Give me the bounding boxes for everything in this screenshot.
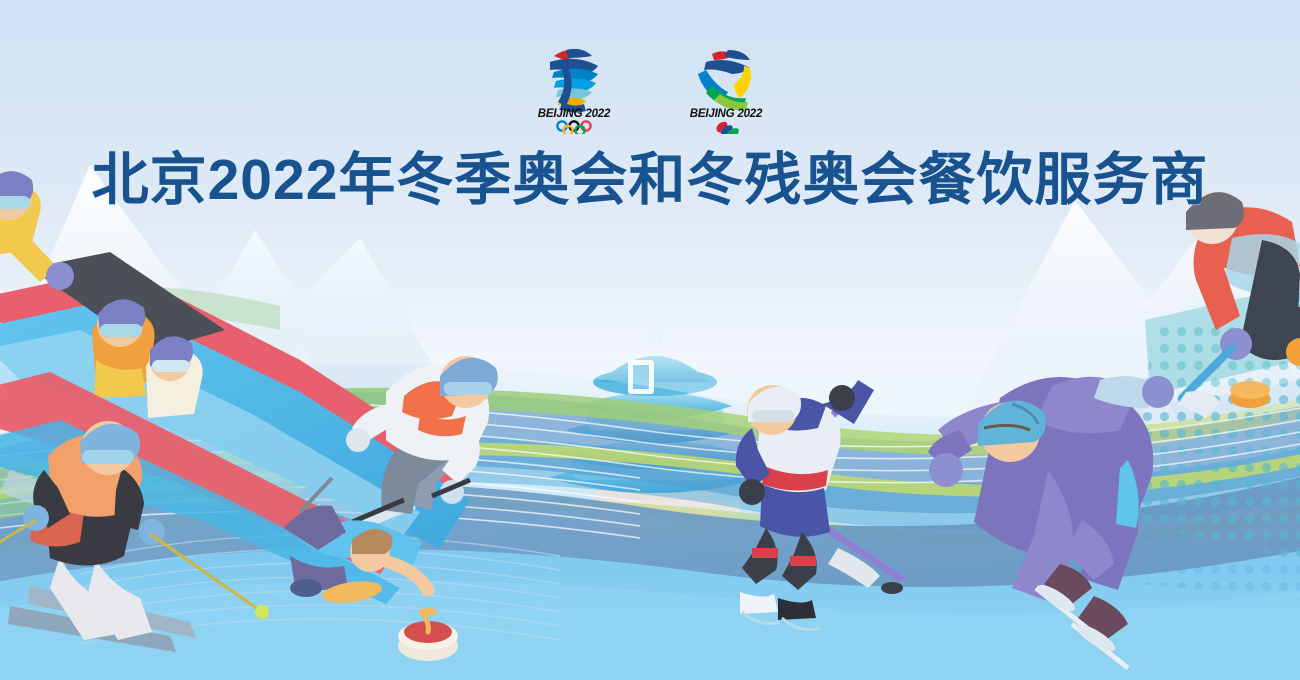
olympic-wordmark: BEIJING 2022 bbox=[538, 108, 611, 120]
paralympic-wordmark: BEIJING 2022 bbox=[690, 108, 763, 120]
agitos-icon bbox=[716, 122, 738, 134]
page-title: 北京2022年冬季奥会和冬残奥会餐饮服务商 bbox=[0, 148, 1300, 212]
olympic-banner: BEIJING 2022 bbox=[0, 0, 1300, 680]
beijing-2022-paralympic-emblem: BEIJING 2022 bbox=[676, 34, 776, 134]
emblem-row: BEIJING 2022 bbox=[0, 34, 1300, 134]
beijing-2022-olympic-emblem: BEIJING 2022 bbox=[524, 34, 624, 134]
